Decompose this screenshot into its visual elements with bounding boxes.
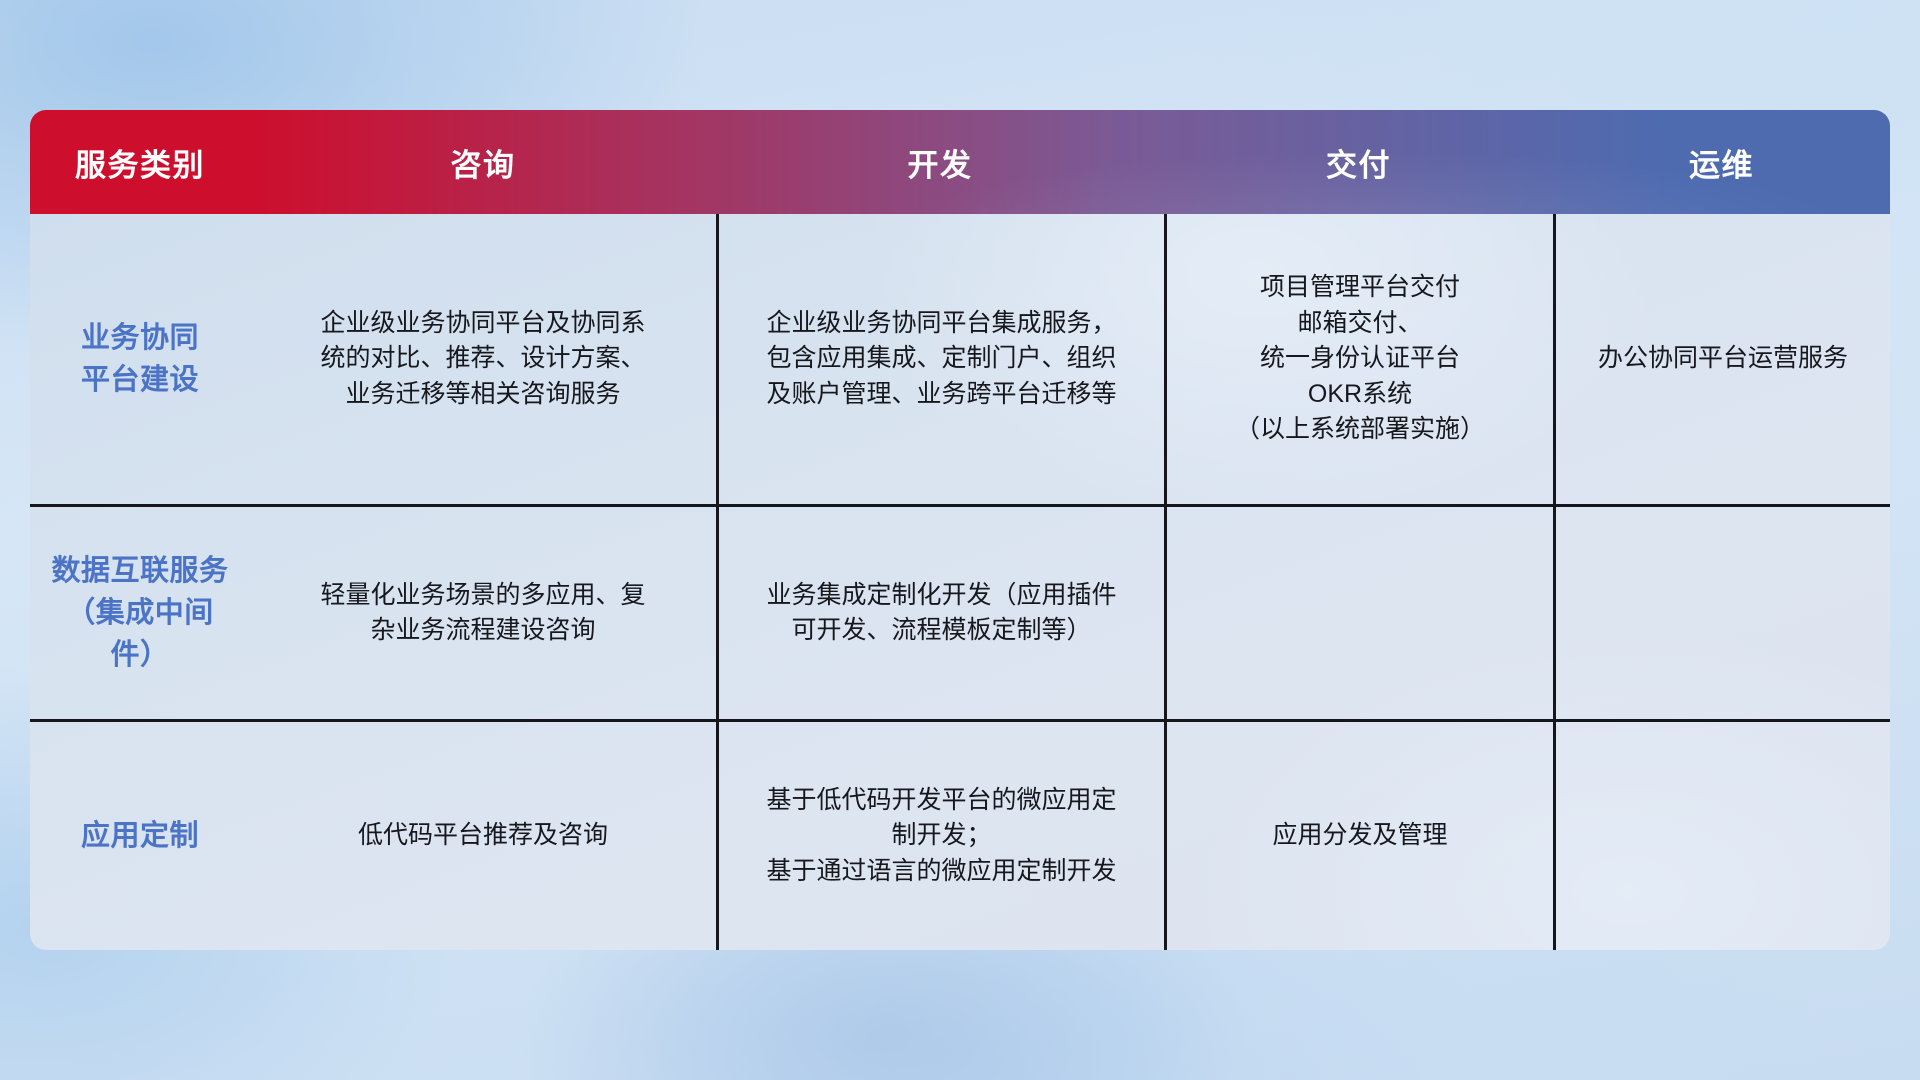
cell-operations	[1553, 722, 1890, 950]
cell-development: 企业级业务协同平台集成服务， 包含应用集成、定制门户、组织 及账户管理、业务跨平…	[716, 214, 1164, 504]
column-header-development: 开发	[716, 140, 1164, 185]
cell-consulting: 企业级业务协同平台及协同系 统的对比、推荐、设计方案、 业务迁移等相关咨询服务	[250, 214, 716, 504]
row-category-label: 数据互联服务 （集成中间件）	[30, 507, 250, 719]
row-category-label: 应用定制	[30, 722, 250, 950]
table-row: 数据互联服务 （集成中间件） 轻量化业务场景的多应用、复 杂业务流程建设咨询 业…	[30, 504, 1890, 719]
cell-consulting: 轻量化业务场景的多应用、复 杂业务流程建设咨询	[250, 507, 716, 719]
cell-operations: 办公协同平台运营服务	[1553, 214, 1890, 504]
cell-delivery: 应用分发及管理	[1164, 722, 1553, 950]
table-row: 应用定制 低代码平台推荐及咨询 基于低代码开发平台的微应用定 制开发； 基于通过…	[30, 719, 1890, 950]
cell-development: 基于低代码开发平台的微应用定 制开发； 基于通过语言的微应用定制开发	[716, 722, 1164, 950]
table-row: 业务协同 平台建设 企业级业务协同平台及协同系 统的对比、推荐、设计方案、 业务…	[30, 214, 1890, 504]
cell-development: 业务集成定制化开发（应用插件 可开发、流程模板定制等）	[716, 507, 1164, 719]
table-header-row: 服务类别 咨询 开发 交付 运维	[30, 110, 1890, 214]
cell-operations	[1553, 507, 1890, 719]
column-header-consulting: 咨询	[250, 140, 716, 185]
column-header-delivery: 交付	[1164, 140, 1553, 185]
table-body: 业务协同 平台建设 企业级业务协同平台及协同系 统的对比、推荐、设计方案、 业务…	[30, 214, 1890, 950]
service-matrix-table: 服务类别 咨询 开发 交付 运维 业务协同 平台建设 企业级业务协同平台及协同系…	[30, 110, 1890, 950]
cell-delivery: 项目管理平台交付 邮箱交付、 统一身份认证平台 OKR系统 （以上系统部署实施）	[1164, 214, 1553, 504]
row-category-label: 业务协同 平台建设	[30, 214, 250, 504]
cell-consulting: 低代码平台推荐及咨询	[250, 722, 716, 950]
column-header-category: 服务类别	[30, 140, 250, 185]
column-header-operations: 运维	[1553, 140, 1890, 185]
cell-delivery	[1164, 507, 1553, 719]
